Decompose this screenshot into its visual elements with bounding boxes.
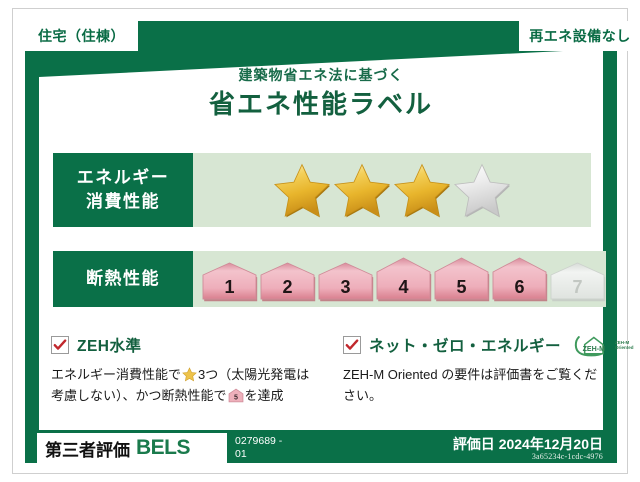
house-icon-filled: 1 [201, 261, 258, 303]
checkbox-zeh[interactable] [51, 336, 69, 354]
insulation-label-line1: 断熱性能 [86, 267, 160, 291]
energy-label-line1: エネルギー [77, 166, 170, 190]
house-step-number: 3 [340, 277, 350, 297]
energy-rating-track [193, 153, 591, 227]
star-icon-filled [333, 162, 391, 218]
zehm-logo: ZEH-M ZEH-M Oriented [573, 332, 634, 358]
checkbox-zehm[interactable] [343, 336, 361, 354]
check-icon [345, 338, 359, 352]
star-icon-filled [273, 162, 331, 218]
zehm-badge-text: ZEH-M [583, 345, 606, 353]
note-zeh-text-3: を達成 [245, 388, 284, 403]
insulation-performance-label: 断熱性能 [53, 251, 193, 307]
evaluation-date-value: 2024年12月20日 [499, 436, 603, 452]
title-main: 省エネ性能ラベル [13, 87, 629, 121]
tag-renewable-energy: 再エネ設備なし [519, 21, 640, 51]
bels-jp-label: 第三者評価 [45, 436, 130, 461]
insulation-performance-row: 断熱性能 1234567 [53, 251, 591, 307]
house-icon-inline: 5 [228, 388, 244, 403]
star-icon-empty [453, 162, 511, 218]
check-icon [53, 338, 67, 352]
note-zehm: ネット・ゼロ・エネルギー ZEH-M ZEH-M Oriented ZEH-M … [343, 333, 601, 406]
evaluation-date: 評価日 2024年12月20日 [453, 434, 603, 454]
note-zehm-body: ZEH-M Oriented の要件は評価書をご覧ください。 [343, 364, 601, 406]
house-icon-filled: 3 [317, 261, 374, 303]
note-zeh-text-1: エネルギー消費性能で [51, 367, 181, 382]
zehm-sub-line2: Oriented [615, 345, 634, 350]
house-icon-filled: 5 [433, 256, 490, 303]
note-zeh-header: ZEH水準 [51, 333, 319, 357]
label-footer: 第三者評価 BELS 0279689 - 01 評価日 2024年12月20日 … [25, 433, 617, 463]
note-zeh-body: エネルギー消費性能で3つ（太陽光発電は考慮しない）、かつ断熱性能で5を達成 [51, 364, 319, 406]
house-step-number: 7 [572, 277, 582, 297]
house-step-number: 2 [282, 277, 292, 297]
title-subtitle: 建築物省エネ法に基づく [13, 65, 629, 85]
house-icon-filled: 2 [259, 261, 316, 303]
house-step-number: 5 [456, 277, 466, 297]
note-zeh: ZEH水準 エネルギー消費性能で3つ（太陽光発電は考慮しない）、かつ断熱性能で5… [51, 333, 319, 406]
house-step-number: 1 [224, 277, 234, 297]
bels-number: 0279689 - 01 [235, 435, 295, 461]
house-step-number: 6 [514, 277, 524, 297]
evaluation-date-label: 評価日 [453, 436, 495, 452]
house-rating: 1234567 [193, 256, 606, 303]
house-icon-inline-value: 5 [234, 394, 238, 402]
tag-building-type: 住宅（住棟） [25, 21, 138, 51]
zehm-badge-sub: ZEH-M Oriented [615, 340, 634, 351]
zehm-sub-line1: ZEH-M [615, 340, 629, 345]
house-icon-filled: 6 [491, 256, 548, 303]
energy-performance-label: 住宅（住棟） 再エネ設備なし 建築物省エネ法に基づく 省エネ性能ラベル エネルギ… [12, 8, 628, 474]
insulation-rating-track: 1234567 [193, 251, 606, 307]
energy-performance-label: エネルギー 消費性能 [53, 153, 193, 227]
star-rating [273, 162, 511, 218]
house-step-number: 4 [398, 277, 408, 297]
energy-performance-row: エネルギー 消費性能 [53, 153, 591, 227]
star-icon-inline [182, 367, 197, 382]
house-icon-filled: 4 [375, 256, 432, 303]
bels-plate: 第三者評価 BELS [37, 433, 227, 463]
note-zehm-title: ネット・ゼロ・エネルギー [369, 334, 561, 356]
note-zeh-title: ZEH水準 [77, 334, 142, 356]
bels-en-label: BELS [136, 436, 190, 460]
star-icon-filled [393, 162, 451, 218]
page-title: 建築物省エネ法に基づく 省エネ性能ラベル [13, 65, 629, 121]
evaluation-id: 3a65234c-1cdc-4976 [532, 452, 603, 461]
house-icon-empty: 7 [549, 261, 606, 303]
energy-label-line2: 消費性能 [86, 190, 160, 214]
note-zehm-header: ネット・ゼロ・エネルギー ZEH-M ZEH-M Oriented [343, 333, 601, 357]
zehm-house-icon: ZEH-M [573, 332, 613, 358]
